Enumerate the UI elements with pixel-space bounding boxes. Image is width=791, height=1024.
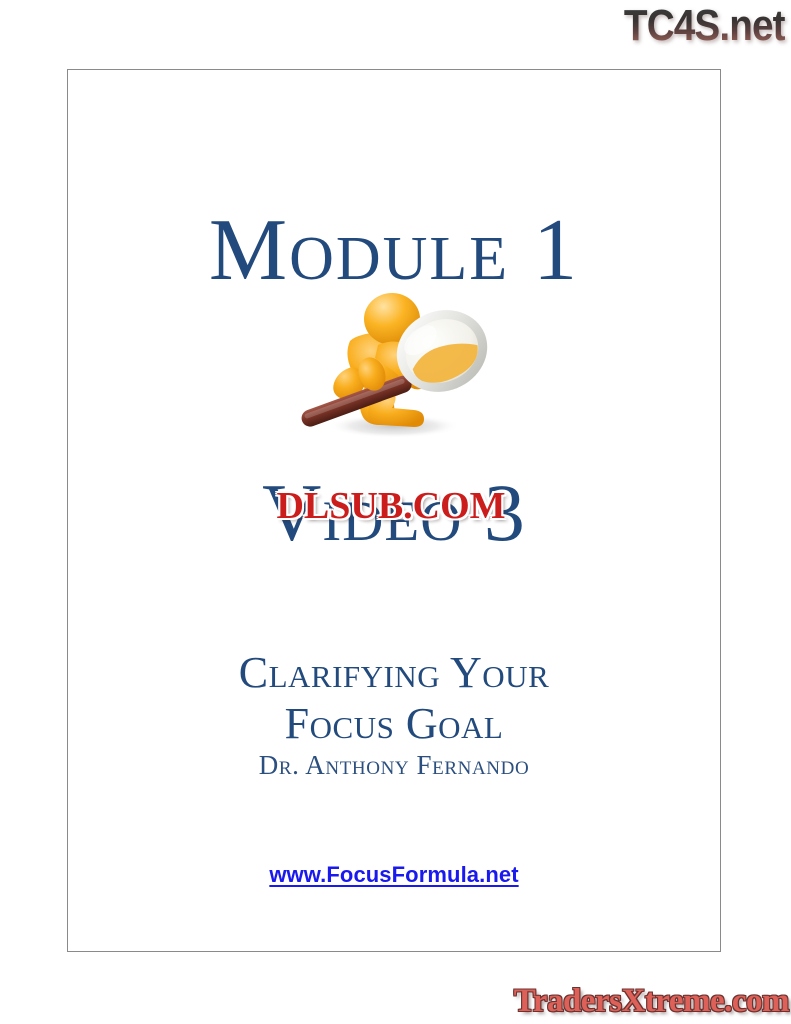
subtitle-line-2: Focus Goal	[68, 698, 720, 750]
subtitle: Clarifying Your Focus Goal	[68, 647, 720, 751]
video-title-row: Video 3 DLSUB.COM	[68, 472, 720, 577]
watermark-tc4s: TC4S.net	[624, 4, 785, 48]
subtitle-line-1: Clarifying Your	[239, 648, 550, 697]
website-link-row: www.FocusFormula.net	[68, 862, 720, 888]
magnifying-glass-figure-icon	[68, 275, 720, 440]
watermark-tradersxtreme: TradersXtreme.com	[514, 985, 789, 1018]
page-content: Module 1	[68, 70, 720, 951]
document-page: Module 1	[67, 69, 721, 952]
author-byline: Dr. Anthony Fernando	[68, 750, 720, 781]
website-link[interactable]: www.FocusFormula.net	[269, 862, 518, 887]
watermark-dlsub: DLSUB.COM	[276, 487, 505, 525]
